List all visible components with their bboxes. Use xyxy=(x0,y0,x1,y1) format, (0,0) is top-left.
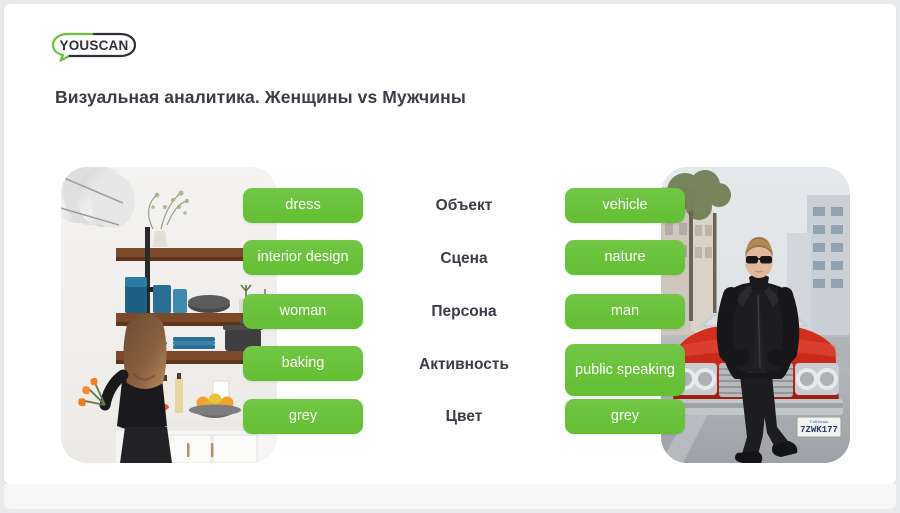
left-tag-scene[interactable]: interior design xyxy=(243,240,363,275)
slide-canvas: YOUSCAN Визуальная аналитика. Женщины vs… xyxy=(4,4,896,484)
left-tag-color[interactable]: grey xyxy=(243,399,363,434)
right-tag-color[interactable]: grey xyxy=(565,399,685,434)
youscan-logo[interactable]: YOUSCAN xyxy=(48,30,140,62)
right-tag-scene[interactable]: nature xyxy=(565,240,685,275)
svg-text:YOUSCAN: YOUSCAN xyxy=(60,38,129,53)
right-tag-object[interactable]: vehicle xyxy=(565,188,685,223)
left-tag-object[interactable]: dress xyxy=(243,188,363,223)
page-frame: YOUSCAN Визуальная аналитика. Женщины vs… xyxy=(0,0,900,513)
category-label-color: Цвет xyxy=(379,408,549,426)
slide-bottom-strip xyxy=(4,484,896,509)
svg-text:7ZWK177: 7ZWK177 xyxy=(800,425,838,435)
svg-text:California: California xyxy=(810,419,828,424)
right-tag-activity[interactable]: public speaking xyxy=(565,344,685,396)
category-label-person: Персона xyxy=(379,303,549,321)
category-label-object: Объект xyxy=(379,197,549,215)
right-photo-man-with-car: 7ZWK177 California xyxy=(661,167,850,463)
category-label-scene: Сцена xyxy=(379,250,549,268)
left-tag-person[interactable]: woman xyxy=(243,294,363,329)
right-tag-person[interactable]: man xyxy=(565,294,685,329)
category-label-activity: Активность xyxy=(379,356,549,374)
left-tag-activity[interactable]: baking xyxy=(243,346,363,381)
page-title: Визуальная аналитика. Женщины vs Мужчины xyxy=(55,87,466,108)
